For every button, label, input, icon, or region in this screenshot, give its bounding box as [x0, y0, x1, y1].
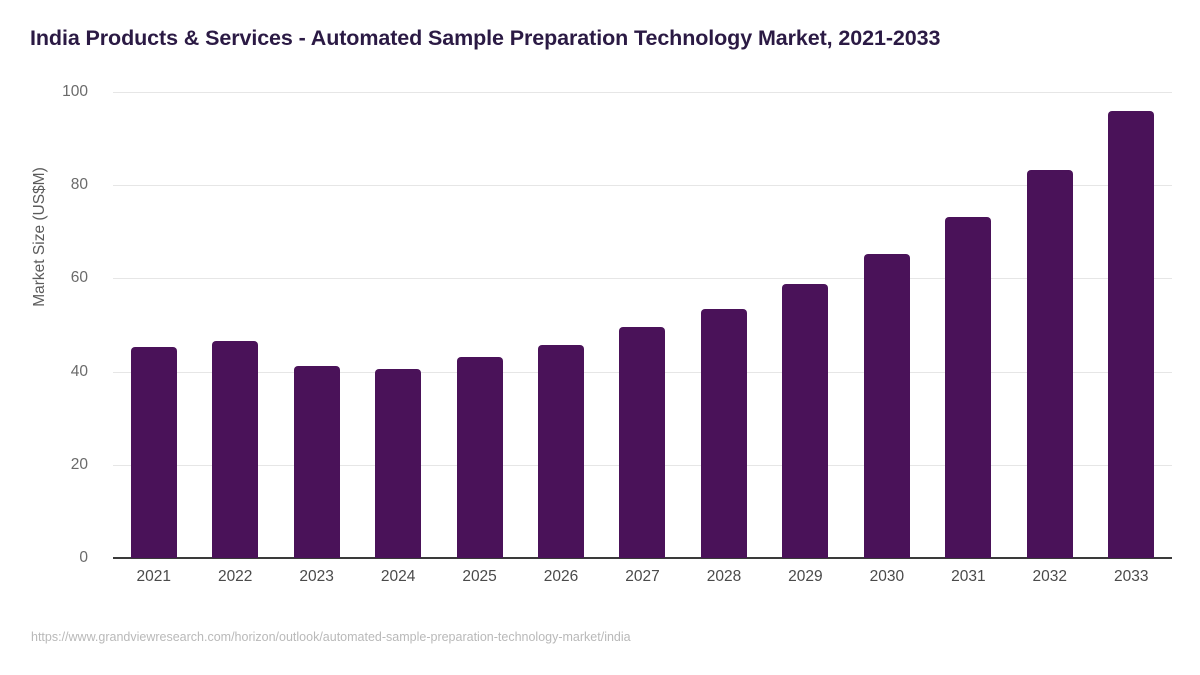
bar-2032[interactable]: [1027, 170, 1073, 558]
bar-slot: [520, 92, 601, 558]
bar-slot: [765, 92, 846, 558]
bar-slot: [846, 92, 927, 558]
x-axis-tick-label-2024: 2024: [381, 568, 415, 586]
bar-slot: [357, 92, 438, 558]
x-axis-tick-label-2033: 2033: [1114, 568, 1148, 586]
x-axis-tick-label-2023: 2023: [299, 568, 333, 586]
y-axis-tick-label: 40: [0, 363, 100, 381]
bar-slot: [602, 92, 683, 558]
x-axis-tick-label-2029: 2029: [788, 568, 822, 586]
x-axis-tick-label-2032: 2032: [1033, 568, 1067, 586]
x-axis-tick-label-2022: 2022: [218, 568, 252, 586]
bar-series: [113, 92, 1172, 558]
bar-2021[interactable]: [131, 347, 177, 558]
y-axis-tick-labels: 020406080100: [0, 92, 100, 558]
y-axis-tick-label: 20: [0, 456, 100, 474]
x-axis-tick-label-2030: 2030: [870, 568, 904, 586]
bar-2027[interactable]: [619, 327, 665, 558]
bar-slot: [113, 92, 194, 558]
bar-slot: [1009, 92, 1090, 558]
x-axis-tick-label-2025: 2025: [462, 568, 496, 586]
bar-2026[interactable]: [538, 345, 584, 558]
bar-slot: [439, 92, 520, 558]
x-axis-tick-labels: 2021202220232024202520262027202820292030…: [113, 568, 1172, 598]
x-axis-tick-label-2021: 2021: [136, 568, 170, 586]
bar-slot: [1091, 92, 1172, 558]
bar-2033[interactable]: [1108, 111, 1154, 558]
bar-2023[interactable]: [294, 366, 340, 558]
bar-2031[interactable]: [945, 217, 991, 558]
bar-2022[interactable]: [212, 341, 258, 558]
source-url-label: https://www.grandviewresearch.com/horizo…: [31, 630, 631, 644]
bar-slot: [928, 92, 1009, 558]
x-axis-tick-label-2026: 2026: [544, 568, 578, 586]
bar-2025[interactable]: [457, 357, 503, 558]
bar-2028[interactable]: [701, 309, 747, 558]
bar-2024[interactable]: [375, 369, 421, 558]
x-axis-tick-label-2027: 2027: [625, 568, 659, 586]
x-axis-tick-label-2028: 2028: [707, 568, 741, 586]
y-axis-tick-label: 0: [0, 549, 100, 567]
bar-2030[interactable]: [864, 254, 910, 558]
page-title: India Products & Services - Automated Sa…: [30, 26, 1170, 51]
bar-slot: [194, 92, 275, 558]
y-axis-tick-label: 60: [0, 269, 100, 287]
bar-slot: [276, 92, 357, 558]
bar-slot: [683, 92, 764, 558]
x-axis-tick-label-2031: 2031: [951, 568, 985, 586]
y-axis-tick-label: 80: [0, 176, 100, 194]
y-axis-tick-label: 100: [0, 83, 100, 101]
chart-page: India Products & Services - Automated Sa…: [0, 0, 1200, 675]
bar-2029[interactable]: [782, 284, 828, 558]
